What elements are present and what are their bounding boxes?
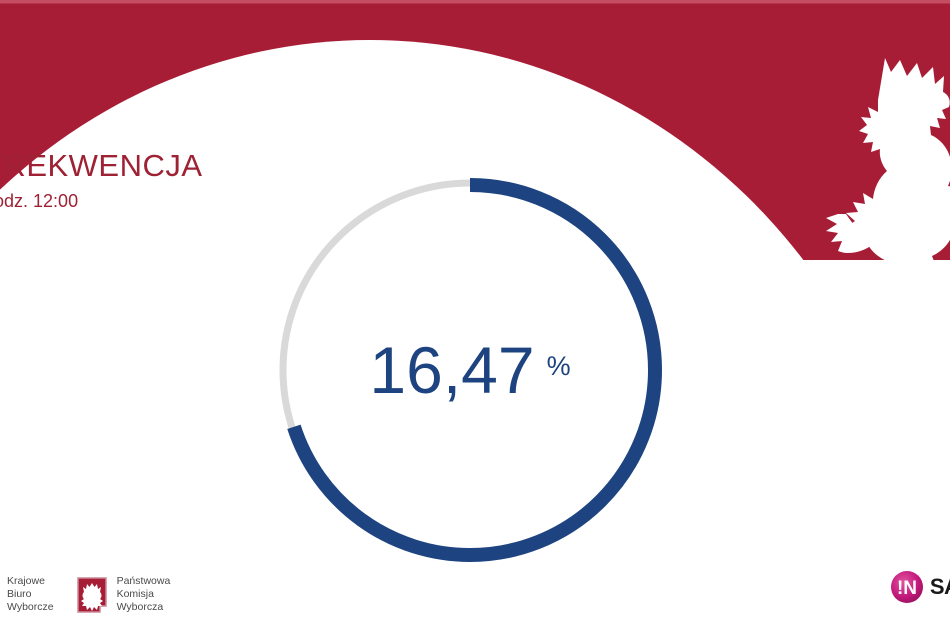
turnout-donut-chart: 16,47 % [275,175,665,565]
insago-badge-text: !N [897,578,917,599]
headline-block: FREKWENCJA godz. 12:00 [0,150,304,210]
screenshot-root: FREKWENCJA godz. 12:00 16,47 % Krajowe B… [0,0,950,632]
logo-line: Wyborcze [7,601,54,614]
page-title: FREKWENCJA [0,150,304,181]
turnout-percent-unit: % [547,351,571,382]
logo-line: Krajowe [7,575,54,588]
logo-line: Państwowa [117,575,171,588]
banner-top-hairline [0,0,950,4]
insago-badge-icon: !N [890,570,924,604]
insago-logo: !N SAG [890,570,950,604]
footer-logo-group: Krajowe Biuro Wyborcze Państwowa Komisja… [0,575,170,614]
turnout-percent-number: 16,47 [369,337,534,403]
polish-eagle-emblem [826,58,950,260]
page-subtitle: godz. 12:00 [0,192,304,210]
logo-line: Biuro [7,588,54,601]
panstwowa-komisja-wyborcza-text: Państwowa Komisja Wyborcza [117,575,171,614]
krajowe-biuro-wyborcze-text: Krajowe Biuro Wyborcze [7,575,54,614]
logo-line: Komisja [117,588,171,601]
insago-wordmark: SAG [930,574,950,600]
krajowe-biuro-wyborcze-logo: Krajowe Biuro Wyborcze [0,575,54,614]
donut-center-value: 16,47 % [275,175,665,565]
logo-line: Wyborcza [117,601,171,614]
eagle-mark-icon [76,576,108,614]
panstwowa-komisja-wyborcza-logo: Państwowa Komisja Wyborcza [76,575,171,614]
